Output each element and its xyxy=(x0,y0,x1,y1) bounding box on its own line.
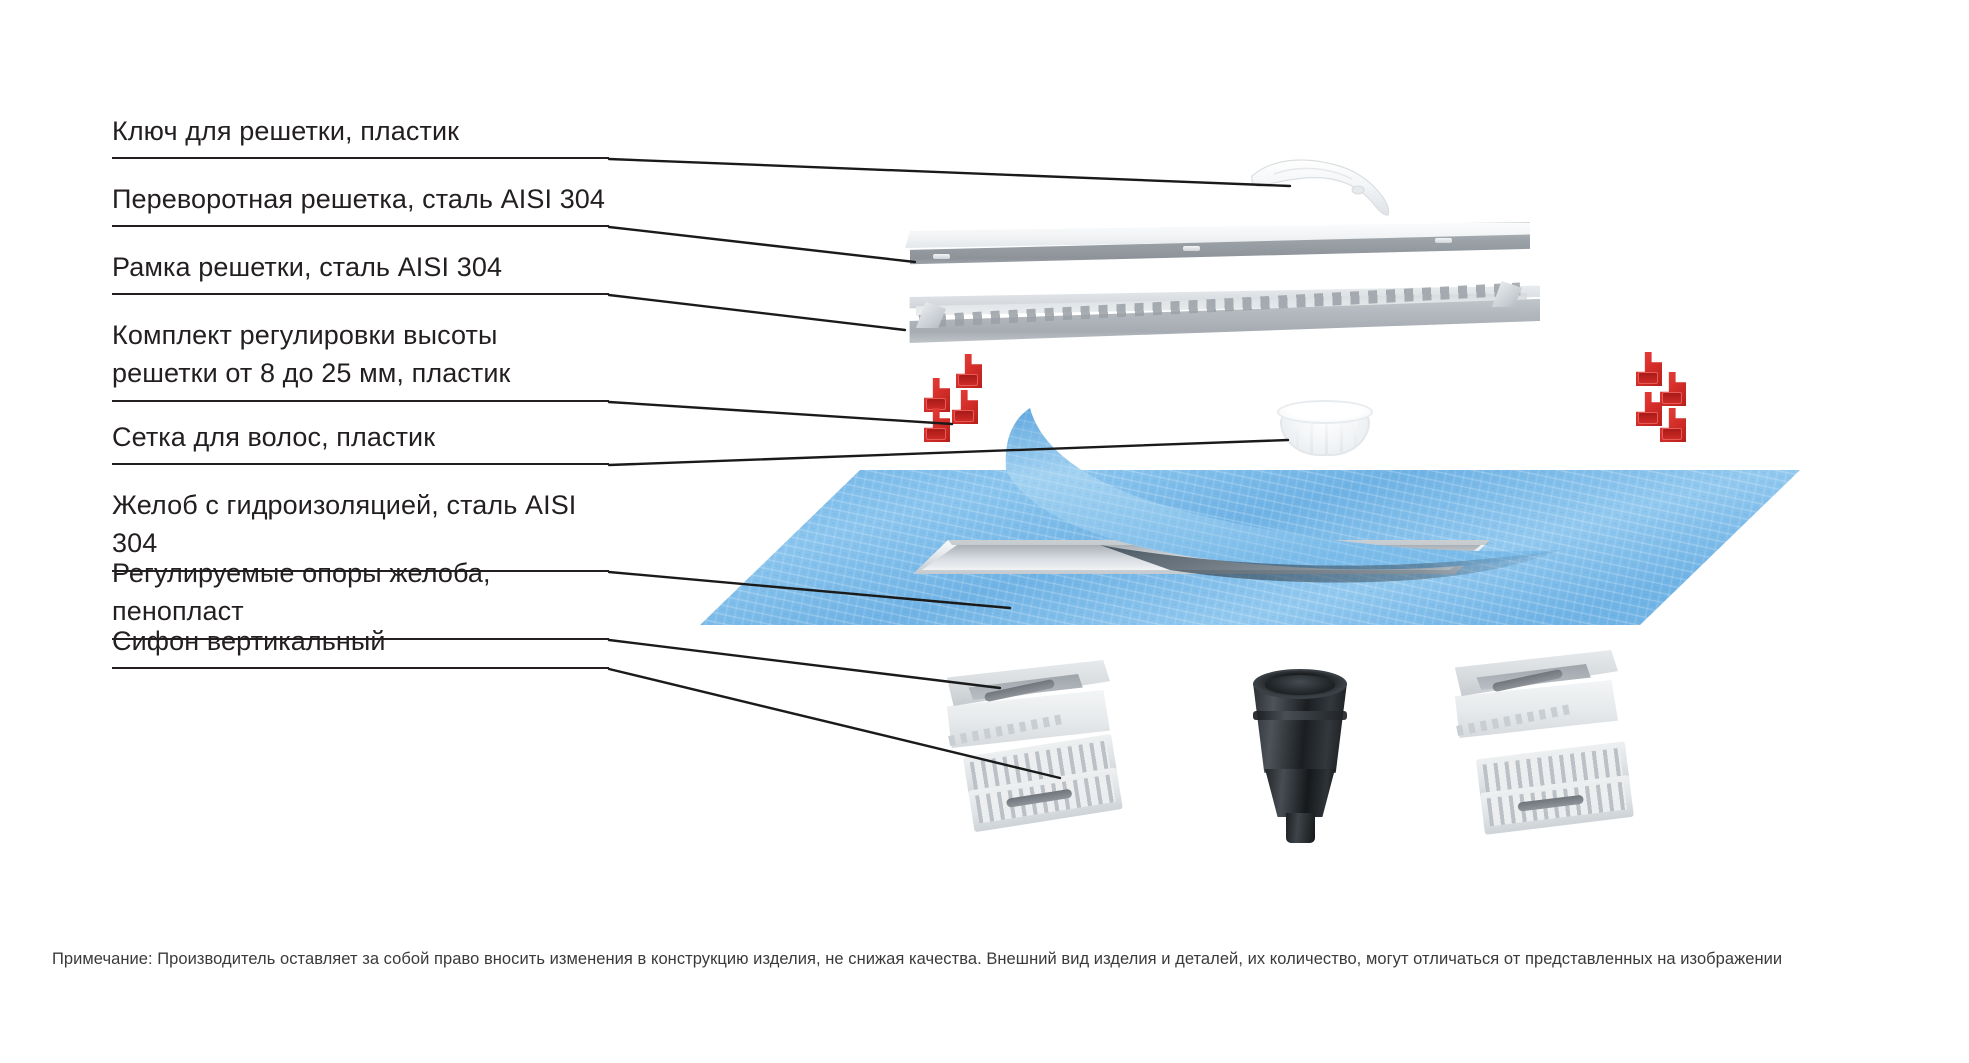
part-hair-strainer xyxy=(1275,398,1375,460)
part-vertical-siphon xyxy=(1245,663,1355,843)
disclaimer-note: Примечание: Производитель оставляет за с… xyxy=(52,950,1782,969)
label-reversible-grate: Переворотная решетка, сталь AISI 304 xyxy=(112,180,609,227)
siphon-barrel xyxy=(1265,769,1335,817)
diagram-canvas: Ключ для решетки, пластик Переворотная р… xyxy=(0,0,1969,1063)
label-height-adjustment-kit: Комплект регулировки высоты решетки от 8… xyxy=(112,316,609,402)
label-grate-frame: Рамка решетки, сталь AISI 304 xyxy=(112,248,609,295)
strainer-rim xyxy=(1277,400,1373,424)
label-vertical-siphon: Сифон вертикальный xyxy=(112,622,609,669)
siphon-outlet xyxy=(1286,813,1315,843)
part-channel-support-right xyxy=(1448,650,1618,742)
siphon-band xyxy=(1253,711,1347,720)
label-hair-strainer: Сетка для волос, пластик xyxy=(112,418,609,465)
label-grate-key: Ключ для решетки, пластик xyxy=(112,112,609,159)
siphon-mouth-inner xyxy=(1265,675,1335,695)
